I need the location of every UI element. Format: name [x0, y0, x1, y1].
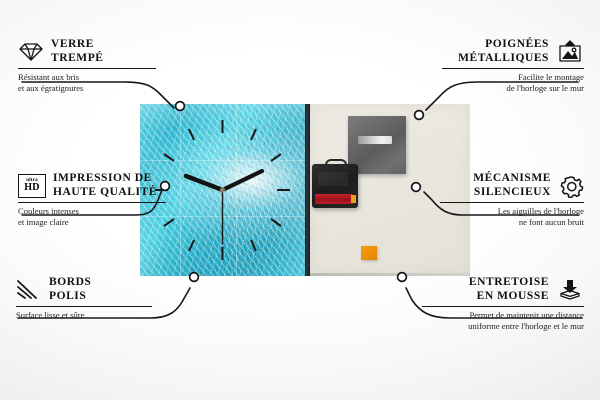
product-photo [140, 104, 470, 276]
callout-rule [18, 68, 156, 69]
callout-subtitle: Surface lisse et sûre [16, 310, 152, 321]
callout-subtitle: Permet de maintenir une distance uniform… [422, 310, 584, 332]
callout-title: ENTRETOISE EN MOUSSE [469, 276, 549, 303]
foam-spacer [361, 246, 377, 260]
callout-title: BORDS POLIS [49, 276, 91, 303]
callout-subtitle: Résistant aux bris et aux égratignures [18, 72, 158, 94]
diamond-icon [18, 41, 44, 63]
callout-subtitle: Les aiguilles de l'horloge ne font aucun… [440, 206, 584, 228]
foam-spacer-icon [556, 278, 584, 302]
polished-edges-icon [16, 279, 42, 301]
callout-subtitle: Couleurs intenses et image claire [18, 206, 166, 228]
ultra-hd-icon: ultra HD [18, 174, 46, 198]
callout-bords-polis: BORDS POLIS Surface lisse et sûre [16, 276, 152, 321]
mechanism-hanger [325, 159, 347, 169]
ultra-hd-icon-main: HD [24, 183, 40, 193]
picture-frame-icon [556, 40, 584, 64]
clock-mechanism [312, 164, 358, 208]
callout-rule [422, 306, 584, 307]
callout-title: MÉCANISME SILENCIEUX [473, 172, 551, 199]
infographic-canvas: VERRE TREMPÉ Résistant aux bris et aux é… [0, 0, 600, 400]
callout-entretoise-en-mousse: ENTRETOISE EN MOUSSE Permet de maintenir… [422, 276, 584, 332]
callout-rule [442, 68, 584, 69]
callout-rule [16, 306, 152, 307]
callout-rule [440, 202, 584, 203]
callout-title: VERRE TREMPÉ [51, 38, 104, 65]
callout-title: POIGNÉES MÉTALLIQUES [458, 38, 549, 65]
callout-mecanisme-silencieux: MÉCANISME SILENCIEUX Les aiguilles de l'… [440, 172, 584, 228]
battery [315, 194, 353, 204]
mechanism-body-detail [318, 172, 348, 186]
callout-poignees-metalliques: POIGNÉES MÉTALLIQUES Facilite le montage… [442, 38, 584, 94]
callout-rule [18, 202, 166, 203]
gear-icon [558, 174, 584, 198]
clock-hands [186, 171, 262, 244]
callout-title: IMPRESSION DE HAUTE QUALITÉ [53, 172, 157, 199]
callout-subtitle: Facilite le montage de l'horloge sur le … [442, 72, 584, 94]
callout-verre-trempe: VERRE TREMPÉ Résistant aux bris et aux é… [18, 38, 158, 94]
callout-impression-hd: ultra HD IMPRESSION DE HAUTE QUALITÉ Cou… [18, 172, 166, 228]
